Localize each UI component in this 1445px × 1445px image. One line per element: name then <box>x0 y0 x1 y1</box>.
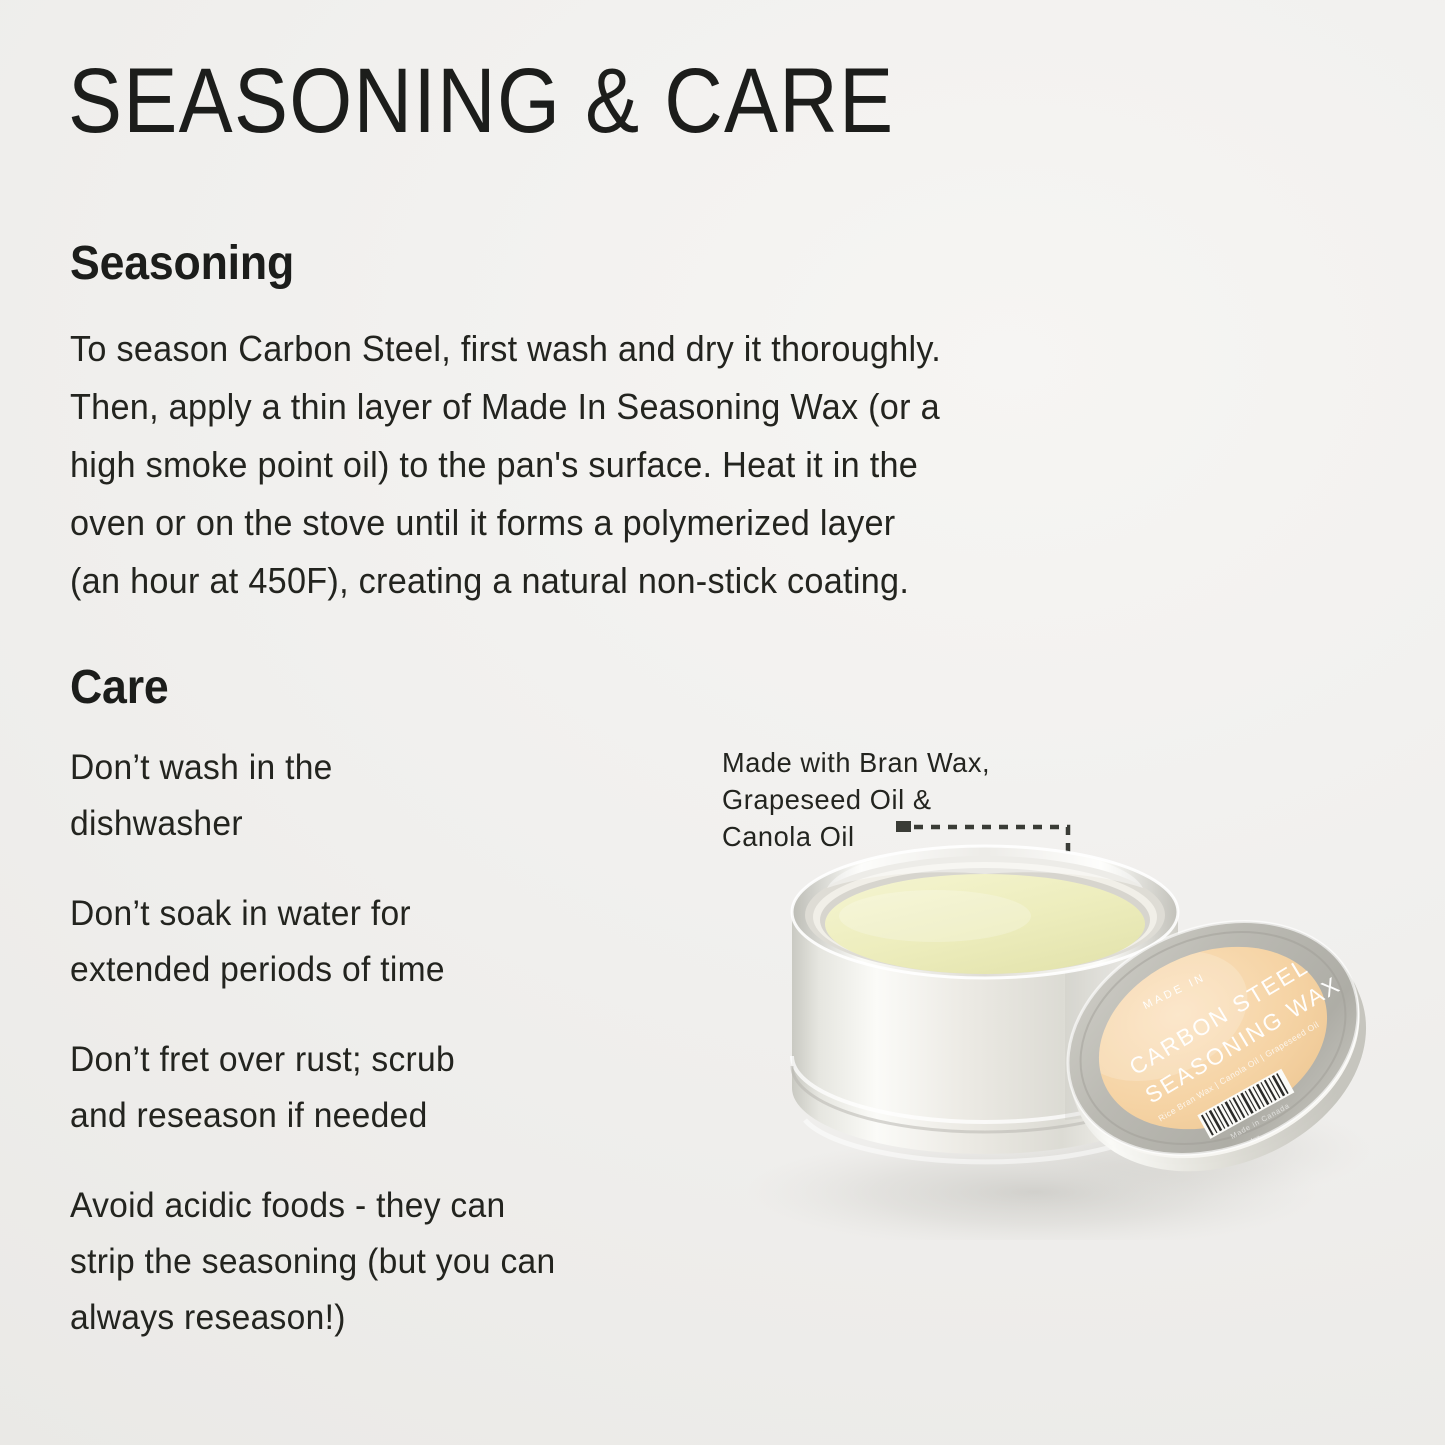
care-list-item: Avoid acidic foods - they can strip the … <box>70 1178 742 1346</box>
callout-line: Made with Bran Wax, <box>722 744 990 781</box>
care-item-line: dishwasher <box>70 796 742 852</box>
care-item-line: strip the seasoning (but you can <box>70 1234 742 1290</box>
care-item-line: Don’t soak in water for <box>70 886 742 942</box>
paragraph-line: Then, apply a thin layer of Made In Seas… <box>70 378 1324 436</box>
paragraph-line: oven or on the stove until it forms a po… <box>70 494 1324 552</box>
page-title: SEASONING & CARE <box>68 55 894 147</box>
seasoning-wax-surface <box>825 846 1145 974</box>
care-item-line: Don’t wash in the <box>70 740 742 796</box>
care-item-line: Avoid acidic foods - they can <box>70 1178 742 1234</box>
infographic-page: SEASONING & CARE Seasoning To season Car… <box>0 0 1445 1445</box>
care-list-item: Don’t soak in water for extended periods… <box>70 886 742 998</box>
seasoning-paragraph: To season Carbon Steel, first wash and d… <box>70 320 1324 610</box>
product-photo-seasoning-wax: MADE IN CARBON STEEL SEASONING WAX Rice … <box>735 820 1425 1240</box>
section-heading-seasoning: Seasoning <box>70 236 294 291</box>
care-item-line: and reseason if needed <box>70 1088 742 1144</box>
paragraph-line: To season Carbon Steel, first wash and d… <box>70 320 1324 378</box>
care-item-line: extended periods of time <box>70 942 742 998</box>
section-heading-care: Care <box>70 660 169 715</box>
care-item-line: always reseason!) <box>70 1290 742 1346</box>
care-item-line: Don’t fret over rust; scrub <box>70 1032 742 1088</box>
paragraph-line: high smoke point oil) to the pan's surfa… <box>70 436 1324 494</box>
care-list-item: Don’t fret over rust; scrub and reseason… <box>70 1032 742 1144</box>
care-list-item: Don’t wash in the dishwasher <box>70 740 742 852</box>
paragraph-line: (an hour at 450F), creating a natural no… <box>70 552 1324 610</box>
care-list: Don’t wash in the dishwasher Don’t soak … <box>70 740 770 1380</box>
